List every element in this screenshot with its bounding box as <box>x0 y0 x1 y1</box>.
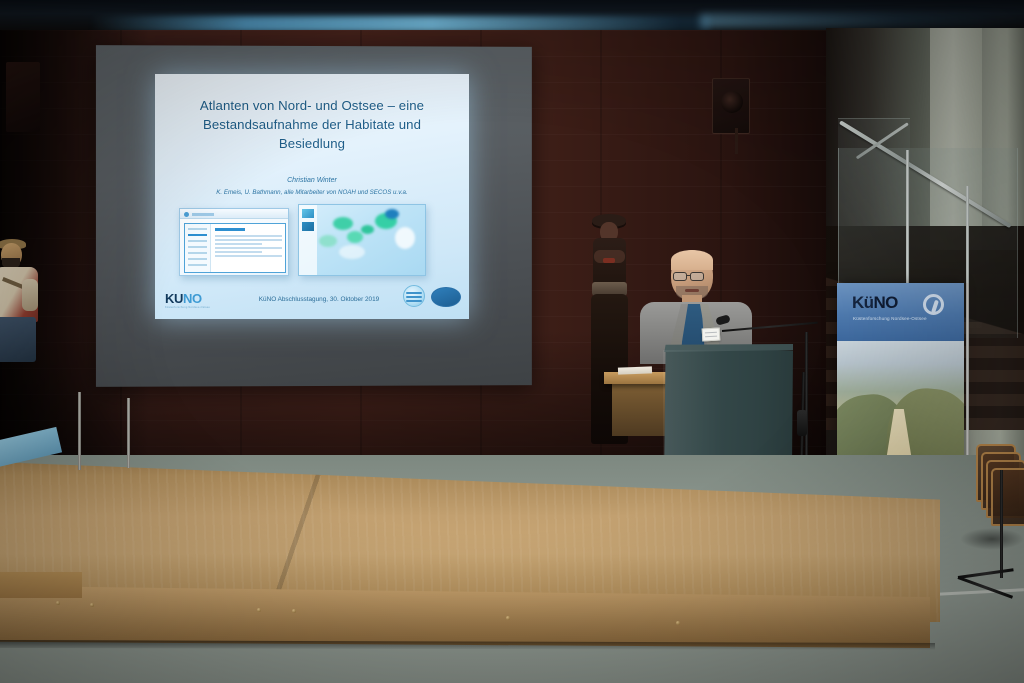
sidebar-row <box>188 246 207 248</box>
wave-line <box>406 300 421 302</box>
presenter-at-podium <box>640 250 752 360</box>
map-legend-swatch-icon <box>302 222 314 231</box>
content-heading <box>215 228 245 231</box>
blue-ceiling-light-strip-secondary-icon <box>700 14 1024 28</box>
wave-line <box>406 296 421 298</box>
name-badge <box>702 328 721 342</box>
conference-photo-scene: Atlanten von Nord- und Ostsee – eine Bes… <box>0 0 1024 683</box>
map-habitat-blob <box>385 209 399 219</box>
stage-bolt <box>506 616 510 620</box>
sidebar-row <box>188 252 207 254</box>
banner-wave-emblem-icon <box>923 294 944 315</box>
sidebar-row <box>188 240 207 242</box>
content-line <box>215 235 282 237</box>
stage-bolt <box>90 603 94 607</box>
stage-support-pole <box>127 398 130 468</box>
sculpture-accent <box>603 258 615 263</box>
eyeglasses-icon <box>673 272 687 281</box>
content-line <box>215 251 262 253</box>
slide-thumbnail-browser <box>179 208 289 276</box>
painted-figure-sculpture <box>0 243 42 378</box>
stage-bolt <box>257 608 261 612</box>
slide-thumbnail-map <box>298 204 426 276</box>
sidebar-row-active <box>188 234 207 236</box>
eyeglasses-icon <box>690 272 704 281</box>
slide-kuno-logo: KUNO Küstenforschung Nordsee-Ostsee <box>165 291 210 309</box>
banner-logo-no: NO <box>873 293 897 312</box>
partner-logo-wave-icon <box>403 285 425 307</box>
banner-header: KüNO Küstenforschung Nordsee-Ostsee <box>837 283 964 341</box>
content-line <box>215 243 262 245</box>
map-legend-panel <box>299 205 317 275</box>
logo-tagline: Küstenforschung Nordsee-Ostsee <box>165 306 210 309</box>
logo-no-text: NO <box>183 291 202 306</box>
badge-line <box>705 335 717 337</box>
wall-mounted-box-left <box>6 62 40 132</box>
content-line <box>215 247 282 249</box>
banner-tagline: Küstenforschung Nordsee-Ostsee <box>853 316 927 321</box>
browser-url-bar <box>192 213 214 216</box>
browser-titlebar <box>180 209 288 219</box>
presenter-mouth <box>685 289 699 292</box>
sculpture-arm <box>22 279 38 311</box>
browser-sidebar <box>185 224 211 272</box>
stage-bolt <box>292 609 296 613</box>
eyeglasses-bridge <box>687 275 691 276</box>
partner-logo-secos-icon <box>431 287 461 307</box>
sidebar-row <box>188 228 207 230</box>
browser-content <box>215 228 282 259</box>
presentation-slide: Atlanten von Nord- und Ostsee – eine Bes… <box>155 74 469 319</box>
map-legend-swatch-icon <box>302 209 314 218</box>
content-line <box>215 239 282 241</box>
banner-kuno-logo: KüNO <box>852 293 898 313</box>
sculpture-lower-garment <box>0 317 36 362</box>
slide-footer-text: KüNO Abschlusstagung, 30. Oktober 2019 <box>239 296 399 303</box>
wave-line <box>406 292 421 294</box>
map-habitat-blob <box>319 235 337 247</box>
paper-stack <box>618 366 652 374</box>
loudspeaker-mount-arm <box>735 128 738 154</box>
slide-coauthors: K. Emeis, U. Bathmann, alle Mitarbeiter … <box>163 189 461 196</box>
banner-logo-ku: Kü <box>852 293 873 312</box>
map-habitat-blob <box>339 245 365 259</box>
sidebar-row <box>188 264 207 266</box>
content-line <box>215 255 282 257</box>
presenter-scalp <box>671 250 713 270</box>
badge-line <box>705 331 717 333</box>
stage-bolt <box>56 601 60 605</box>
slide-title: Atlanten von Nord- und Ostsee – eine Bes… <box>169 96 455 153</box>
browser-dot-icon <box>184 212 189 217</box>
secondary-stand-pole <box>1000 470 1003 578</box>
slide-author: Christian Winter <box>169 177 455 184</box>
map-habitat-blob <box>395 227 415 249</box>
logo-ku-text: KU <box>165 291 183 306</box>
stage-bolt <box>676 621 680 625</box>
chair <box>991 468 1024 526</box>
map-habitat-blob <box>361 225 374 234</box>
map-habitat-blob <box>333 217 353 230</box>
wall-mounted-loudspeaker <box>712 78 750 134</box>
microphone-stand-clamp <box>797 410 807 436</box>
stage-step <box>0 572 82 598</box>
map-habitat-blob <box>347 231 363 243</box>
stage-support-pole <box>78 392 81 470</box>
sidebar-row <box>188 258 207 260</box>
browser-viewport <box>184 223 286 273</box>
